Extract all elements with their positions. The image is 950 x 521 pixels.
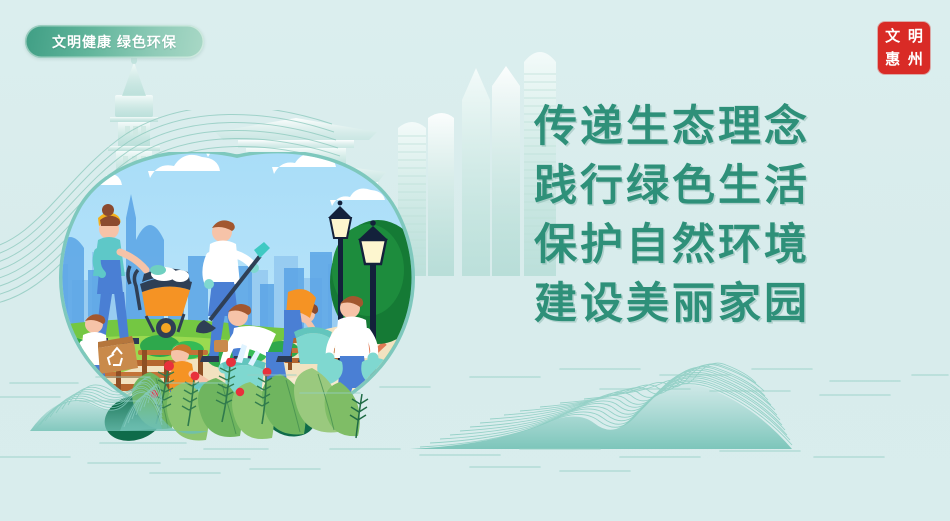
civilized-huizhou-seal: 文 明 惠 州 <box>878 22 930 74</box>
slogan-line-3: 保护自然环境 <box>534 216 864 275</box>
slogan-line-2: 践行绿色生活 <box>534 157 864 216</box>
seal-char-1: 文 <box>883 27 903 47</box>
slogan-line-4: 建设美丽家园 <box>534 275 864 334</box>
contour-mountains <box>0 331 950 521</box>
main-slogan: 传递生态理念 践行绿色生活 保护自然环境 建设美丽家园 <box>534 98 864 334</box>
slogan-badge-label: 文明健康 绿色环保 <box>52 32 177 52</box>
slogan-line-1: 传递生态理念 <box>534 98 864 157</box>
poster-canvas: 文明健康 绿色环保 文 明 惠 州 <box>0 0 950 521</box>
mountain-right <box>410 363 792 449</box>
slogan-badge: 文明健康 绿色环保 <box>25 25 204 58</box>
seal-char-2: 明 <box>905 27 925 47</box>
seal-char-4: 州 <box>905 49 925 69</box>
mountain-left <box>30 378 208 434</box>
seal-char-3: 惠 <box>883 49 903 69</box>
